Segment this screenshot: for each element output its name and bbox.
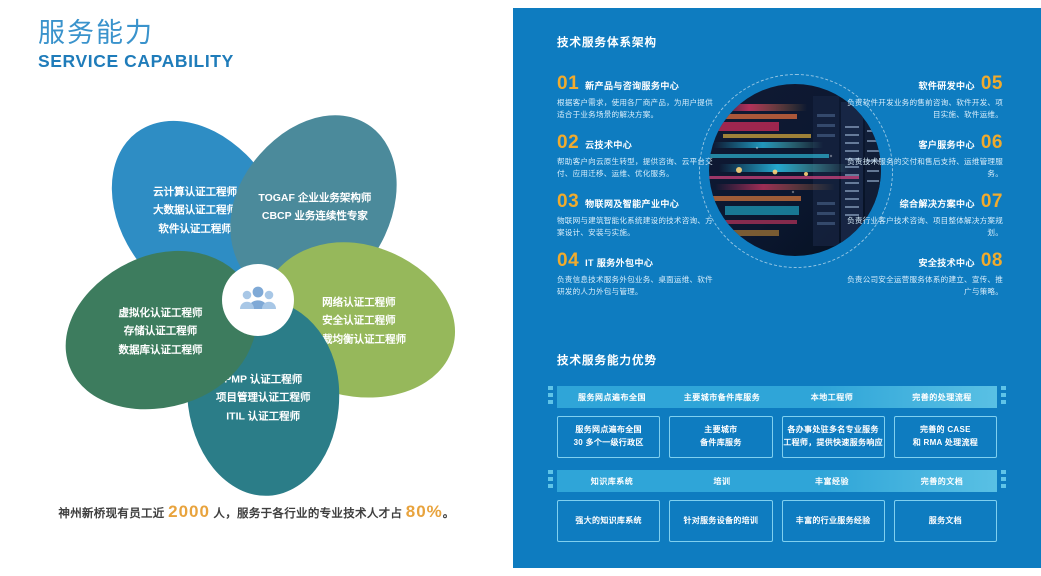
people-group-icon	[240, 285, 276, 316]
advantage-header-row: 服务网点遍布全国 主要城市备件库服务 本地工程师 完善的处理流程	[557, 386, 997, 408]
advantage-header-cell: 本地工程师	[777, 392, 887, 403]
arch-item-desc: 负责公司安全运营服务体系的建立、宣传、推广与策略。	[845, 274, 1003, 298]
advantage-cell[interactable]: 服务网点遍布全国30 多个一级行政区	[557, 416, 660, 458]
caption-part-1: 神州新桥现有员工近	[58, 508, 168, 520]
advantage-cell[interactable]: 强大的知识库系统	[557, 500, 660, 542]
arch-item-number: 05	[981, 74, 1003, 93]
table-tick-left	[548, 470, 553, 492]
arch-item-name: 安全技术中心	[918, 256, 974, 269]
petal-label-3: PMP 认证工程师 项目管理认证工程师 ITIL 认证工程师	[216, 370, 311, 425]
caption-part-3: 。	[443, 508, 455, 520]
arch-item-name: 软件研发中心	[918, 79, 974, 92]
employee-statistics-caption: 神州新桥现有员工近 2000 人，服务于各行业的专业技术人才占 80%。	[0, 502, 513, 522]
advantage-body-row: 服务网点遍布全国30 多个一级行政区 主要城市备件库服务 各办事处驻多名专业服务…	[557, 416, 997, 458]
table-tick-right	[1001, 470, 1006, 492]
advantage-table-2: 知识库系统 培训 丰富经验 完善的文档 强大的知识库系统 针对服务设备的培训 丰…	[557, 470, 997, 542]
arch-item-02[interactable]: 02 云技术中心 帮助客户向云原生转型，提供咨询、云平台交付、应用迁移、运维、优…	[557, 133, 715, 180]
arch-item-04[interactable]: 04 IT 服务外包中心 负责信息技术服务外包业务、桌面运维、软件研发的人力外包…	[557, 251, 715, 298]
arch-item-name: 综合解决方案中心	[900, 197, 975, 210]
arch-item-number: 07	[981, 192, 1003, 211]
advantage-header-row: 知识库系统 培训 丰富经验 完善的文档	[557, 470, 997, 492]
advantage-header-cell: 丰富经验	[777, 476, 887, 487]
advantage-header-cell: 培训	[667, 476, 777, 487]
advantage-cell[interactable]: 针对服务设备的培训	[669, 500, 772, 542]
arch-item-number: 01	[557, 74, 579, 93]
petal-label-1: TOGAF 企业业务架构师 CBCP 业务连续性专家	[258, 188, 371, 225]
advantage-table-1: 服务网点遍布全国 主要城市备件库服务 本地工程师 完善的处理流程 服务网点遍布全…	[557, 386, 997, 458]
arch-item-desc: 物联网与建筑智能化系统建设的技术咨询、方案设计、安装与实施。	[557, 215, 715, 239]
arch-item-desc: 负责技术服务的交付和售后支持、运维管理服务。	[845, 156, 1003, 180]
arch-item-desc: 帮助客户向云原生转型，提供咨询、云平台交付、应用迁移、运维、优化服务。	[557, 156, 715, 180]
technical-service-panel: 技术服务体系架构	[513, 8, 1041, 568]
arch-item-name: IT 服务外包中心	[585, 256, 653, 269]
petal-label-0: 云计算认证工程师 大数据认证工程师 软件认证工程师	[153, 183, 237, 238]
advantage-section-title: 技术服务能力优势	[557, 352, 657, 368]
arch-item-name: 云技术中心	[585, 138, 632, 151]
arch-item-number: 08	[981, 251, 1003, 270]
arch-item-06[interactable]: 客户服务中心 06 负责技术服务的交付和售后支持、运维管理服务。	[845, 133, 1003, 180]
caption-part-2: 人，服务于各行业的专业技术人才占	[210, 508, 406, 520]
arch-item-desc: 根据客户需求，使用各厂商产品，为用户提供适合于业务场景的解决方案。	[557, 97, 715, 121]
arch-item-desc: 负责信息技术服务外包业务、桌面运维、软件研发的人力外包与管理。	[557, 274, 715, 298]
caption-employee-count: 2000	[168, 502, 210, 521]
title-english: SERVICE CAPABILITY	[38, 51, 234, 72]
advantage-cell[interactable]: 主要城市备件库服务	[669, 416, 772, 458]
petal-label-4: 虚拟化认证工程师 存储认证工程师 数据库认证工程师	[119, 304, 203, 359]
table-tick-right	[1001, 386, 1006, 408]
arch-item-08[interactable]: 安全技术中心 08 负责公司安全运营服务体系的建立、宣传、推广与策略。	[845, 251, 1003, 298]
advantage-header-cell: 知识库系统	[557, 476, 667, 487]
title-chinese: 服务能力	[38, 18, 234, 49]
arch-item-desc: 负责软件开发业务的售前咨询、软件开发、项目实施、软件运维。	[845, 97, 1003, 121]
arch-item-05[interactable]: 软件研发中心 05 负责软件开发业务的售前咨询、软件开发、项目实施、软件运维。	[845, 74, 1003, 121]
arch-item-07[interactable]: 综合解决方案中心 07 负责行业客户技术咨询、项目整体解决方案规划。	[845, 192, 1003, 239]
capability-flower-diagram: 云计算认证工程师 大数据认证工程师 软件认证工程师 TOGAF 企业业务架构师 …	[58, 98, 458, 488]
arch-item-desc: 负责行业客户技术咨询、项目整体解决方案规划。	[845, 215, 1003, 239]
advantage-cell[interactable]: 丰富的行业服务经验	[782, 500, 885, 542]
caption-percentage: 80%	[406, 502, 443, 521]
flower-hub	[222, 264, 294, 336]
service-capability-panel: 服务能力 SERVICE CAPABILITY 云计算认证工程师 大数据认证工程…	[0, 0, 513, 576]
advantage-header-cell: 完善的处理流程	[887, 392, 997, 403]
advantage-body-row: 强大的知识库系统 针对服务设备的培训 丰富的行业服务经验 服务文档	[557, 500, 997, 542]
arch-item-name: 新产品与咨询服务中心	[585, 79, 679, 92]
arch-item-01[interactable]: 01 新产品与咨询服务中心 根据客户需求，使用各厂商产品，为用户提供适合于业务场…	[557, 74, 715, 121]
arch-item-number: 04	[557, 251, 579, 270]
advantage-cell[interactable]: 完善的 CASE和 RMA 处理流程	[894, 416, 997, 458]
arch-item-number: 06	[981, 133, 1003, 152]
arch-item-03[interactable]: 03 物联网及智能产业中心 物联网与建筑智能化系统建设的技术咨询、方案设计、安装…	[557, 192, 715, 239]
arch-item-name: 物联网及智能产业中心	[585, 197, 679, 210]
advantage-header-cell: 服务网点遍布全国	[557, 392, 667, 403]
advantage-cell[interactable]: 服务文档	[894, 500, 997, 542]
advantage-cell[interactable]: 各办事处驻多名专业服务工程师，提供快速服务响应	[782, 416, 885, 458]
advantage-header-cell: 主要城市备件库服务	[667, 392, 777, 403]
arch-item-number: 03	[557, 192, 579, 211]
arch-item-number: 02	[557, 133, 579, 152]
arch-item-name: 客户服务中心	[918, 138, 974, 151]
table-tick-left	[548, 386, 553, 408]
page-title: 服务能力 SERVICE CAPABILITY	[38, 18, 234, 72]
architecture-section-title: 技术服务体系架构	[557, 34, 657, 50]
advantage-header-cell: 完善的文档	[887, 476, 997, 487]
